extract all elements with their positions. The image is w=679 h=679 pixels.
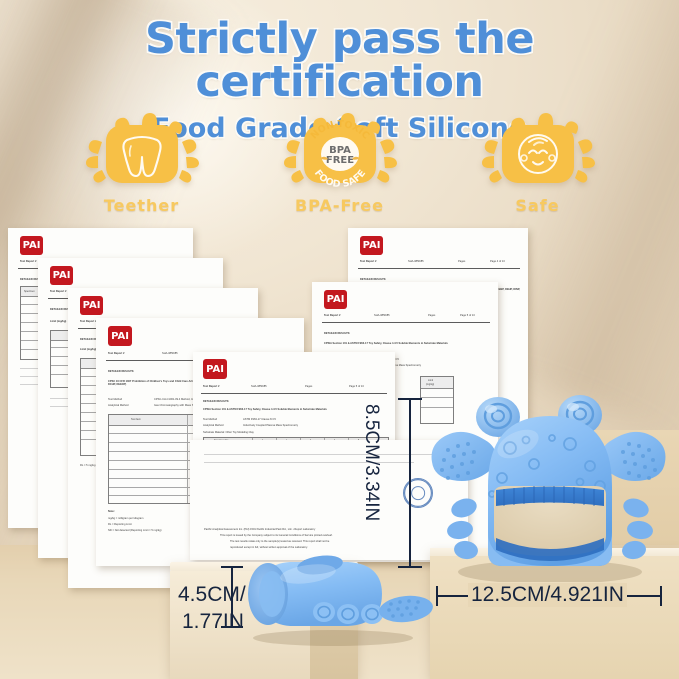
dim-height-line (409, 398, 411, 568)
doc4-analytical-label: Analytical Method (108, 404, 140, 407)
docmain-section-heading: DETAILED RESULTS: (203, 400, 247, 403)
docmain-substrate: Substrate Material: Other Toy Modeling C… (203, 431, 323, 434)
doc-fg-footer-0: Pacific Analytical Assessment Inc. (PAI)… (204, 528, 454, 531)
dim-width-cap-right (660, 586, 662, 606)
dim-side-label-2: 1.77IN (182, 610, 244, 634)
pai-logo-text-1: PAI (23, 240, 41, 251)
crab-side-claw (378, 593, 433, 625)
badge-safe: Safe (478, 112, 598, 215)
dim-width-label: 12.5CM/4.921IN (468, 583, 627, 607)
doc5-report-label: Test Report # (360, 260, 396, 263)
pai-logo-5: PAI (360, 236, 383, 255)
doc6-report-label: Test Report # (324, 314, 360, 317)
badge-teether: Teether (82, 112, 202, 215)
badge-safe-art (478, 112, 598, 190)
pai-logo-1: PAI (20, 236, 43, 255)
docmain-analytical-label: Analytical Method (203, 424, 231, 427)
certification-stamp (403, 478, 433, 508)
pai-logo-4: PAI (108, 326, 132, 346)
doc4-section-heading: DETAILED RESULTS: (108, 370, 152, 373)
pai-logo-3: PAI (80, 296, 103, 315)
pai-logo-main: PAI (203, 359, 227, 379)
doc5-page-of: Page 4 of 13 (490, 260, 526, 263)
badge-bpa-free-art: NON-TOXIC FOOD SAFE BPA FREE (280, 112, 400, 190)
doc4-report-label: Test Report # (108, 352, 144, 355)
docmain-test-method-value: ASTM F963-17 Clause 8.3.5 (243, 418, 363, 421)
pai-logo-text-6: PAI (327, 294, 345, 305)
doc5-report-no: SHA-0856/85 (408, 260, 448, 263)
badge-teether-label: Teether (82, 196, 202, 215)
baby-face-icon (478, 112, 598, 190)
pai-logo-text-main: PAI (206, 364, 224, 375)
crab-side-legs (313, 602, 383, 624)
pai-logo-2: PAI (50, 266, 73, 285)
docmain-page-of: Page 5 of 13 (349, 385, 387, 388)
doc6-report-no: SHA-0856/85 (374, 314, 414, 317)
pai-logo-6: PAI (324, 290, 347, 309)
badge-teether-art (82, 112, 202, 190)
product-infographic: Strictly pass the certification Food Gra… (0, 0, 679, 679)
doc4-test-method-label: Test Method (108, 398, 138, 401)
pai-logo-text-4: PAI (111, 331, 129, 342)
dim-side-label-1: 4.5CM/ (178, 583, 246, 607)
crab-claw-left (432, 432, 497, 481)
docmain-pages: Pages (305, 385, 327, 388)
badge-bpa-free-label: BPA-Free (280, 196, 400, 215)
doc-fg-footer-3: reproduced except in full, without writt… (230, 546, 445, 549)
certification-badges: Teether (0, 112, 679, 215)
docmain-report-label: Test Report # (203, 385, 237, 388)
doc6-title: CPSIA Section 101 & ASTM F963-17 Toy Saf… (324, 342, 492, 350)
page-title: Strictly pass the certification (0, 18, 679, 104)
dim-height-label: 8.5CM/3.34IN (360, 404, 382, 521)
doc6-page-of: Page 5 of 13 (460, 314, 496, 317)
pai-logo-text-3: PAI (83, 300, 101, 311)
docmain-test-method-label: Test Method (203, 418, 229, 421)
doc4-note-label: Note: (108, 510, 128, 513)
pai-logo-text-2: PAI (53, 270, 71, 281)
doc5-section-heading: DETAILED RESULTS: (360, 278, 404, 281)
doc5-pages: Pages (458, 260, 482, 263)
doc6-pages: Pages (428, 314, 452, 317)
badge-bpa-free: NON-TOXIC FOOD SAFE BPA FREE BPA-Free (280, 112, 400, 215)
product-crab-teether-front (430, 382, 670, 582)
dim-height-cap-bottom (398, 566, 422, 568)
crab-teether-front-svg (430, 382, 670, 582)
bpa-free-seal-icon: NON-TOXIC FOOD SAFE BPA FREE (280, 112, 400, 190)
doc-fg-footer-1: This report is issued by the Company sub… (220, 534, 450, 537)
docmain-report-no: SHA-0856/85 (251, 385, 289, 388)
certificate-document-foreground: Pacific Analytical Assessment Inc. (PAI)… (190, 440, 468, 560)
doc6-section-heading: DETAILED RESULTS: (324, 332, 368, 335)
doc-fg-footer-2: The test results relate only to the samp… (230, 540, 445, 543)
seal-center-line2: FREE (325, 155, 353, 166)
crab-badge-shape-icon (82, 112, 202, 190)
docmain-analytical-value: Inductively Coupled Plasma Mass Spectrom… (243, 424, 373, 427)
pai-logo-text-5: PAI (363, 240, 381, 251)
badge-safe-label: Safe (478, 196, 598, 215)
